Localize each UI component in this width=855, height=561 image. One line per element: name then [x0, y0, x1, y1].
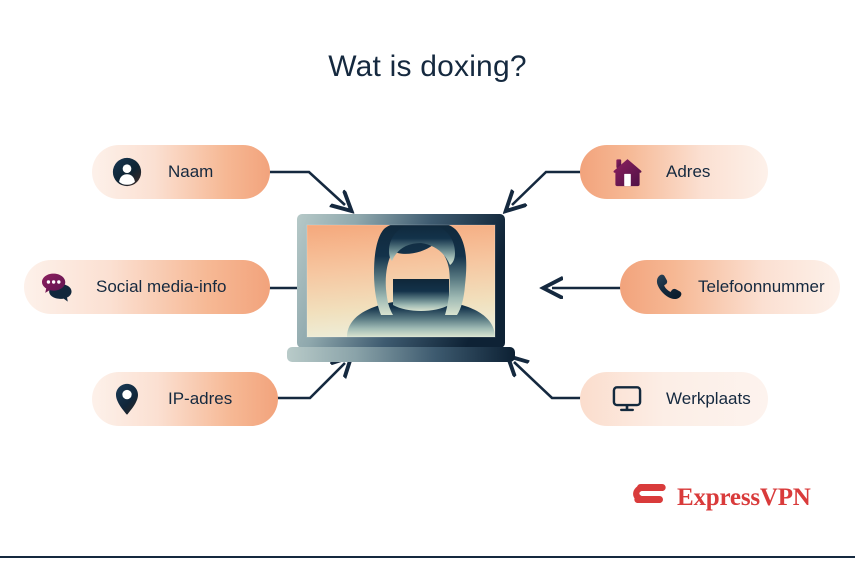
expressvpn-e-logo-icon	[632, 482, 668, 514]
pill-naam-label: Naam	[168, 162, 213, 182]
pill-naam[interactable]: Naam	[92, 145, 270, 199]
laptop-illustration	[285, 205, 575, 370]
bottom-divider	[0, 556, 855, 558]
map-pin-icon	[110, 382, 144, 416]
user-avatar-icon	[110, 155, 144, 189]
pill-adres[interactable]: Adres	[580, 145, 768, 199]
monitor-icon	[610, 382, 644, 416]
pill-adres-label: Adres	[666, 162, 710, 182]
pill-social-media-label: Social media-info	[96, 277, 226, 297]
infographic-canvas: Wat is doxing?	[0, 0, 855, 561]
pill-telefoonnummer[interactable]: Telefoonnummer	[620, 260, 840, 314]
expressvpn-logo: ExpressVPN	[632, 482, 811, 514]
house-icon	[610, 155, 644, 189]
pill-werkplaats[interactable]: Werkplaats	[580, 372, 768, 426]
expressvpn-wordmark: ExpressVPN	[677, 484, 811, 512]
chat-bubbles-icon	[42, 270, 76, 304]
pill-werkplaats-label: Werkplaats	[666, 389, 751, 409]
page-title: Wat is doxing?	[0, 50, 855, 84]
pill-ip-adres[interactable]: IP-adres	[92, 372, 278, 426]
pill-telefoonnummer-label: Telefoonnummer	[698, 277, 825, 297]
pill-social-media[interactable]: Social media-info	[24, 260, 270, 314]
phone-icon	[652, 270, 686, 304]
pill-ip-adres-label: IP-adres	[168, 389, 232, 409]
